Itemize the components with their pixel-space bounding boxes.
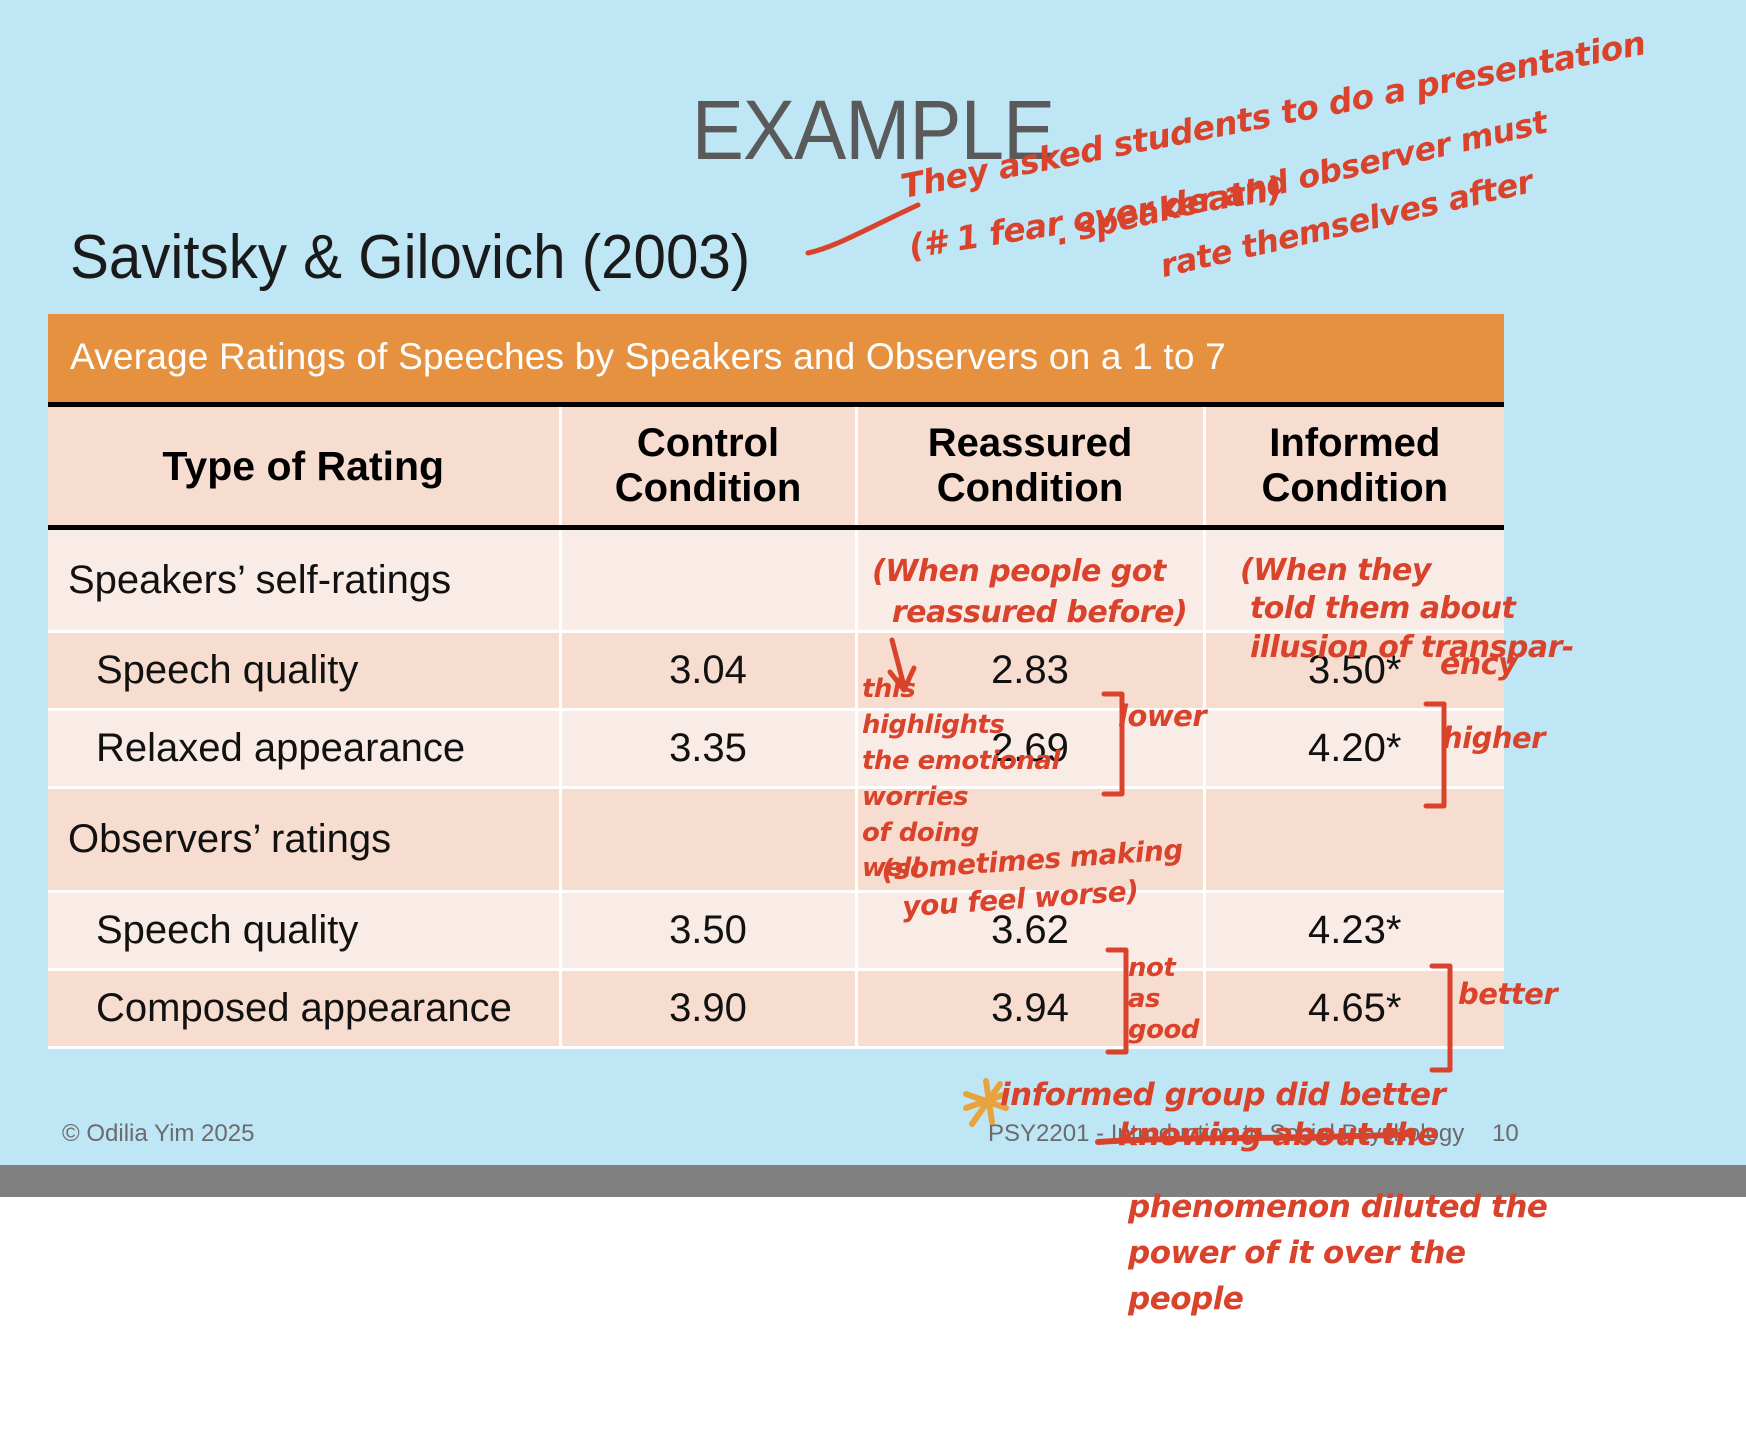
annotation-informed-note: (When they told them about illusion of t… bbox=[1240, 552, 1574, 667]
slide-subtitle: Savitsky & Gilovich (2003) bbox=[70, 222, 750, 293]
table-banner: Average Ratings of Speeches by Speakers … bbox=[48, 314, 1504, 405]
row-label: Speech quality bbox=[48, 892, 560, 970]
slide-canvas: EXAMPLE Savitsky & Gilovich (2003) Avera… bbox=[0, 0, 1746, 1456]
annotation-strike-line1: knowing about the bbox=[1118, 1118, 1438, 1154]
table-header-row: Type of Rating Control Condition Reassur… bbox=[48, 405, 1504, 528]
ratings-table-container: Average Ratings of Speeches by Speakers … bbox=[48, 314, 1504, 1049]
cell-informed: 4.23* bbox=[1204, 892, 1504, 970]
annotation-star-note: informed group did better bbox=[1000, 1078, 1445, 1114]
footer-page-number: 10 bbox=[1492, 1120, 1519, 1148]
header-line-1: Control bbox=[637, 421, 779, 465]
table-row: Composed appearance 3.90 3.94 4.65* bbox=[48, 970, 1504, 1048]
row-label: Speech quality bbox=[48, 632, 560, 710]
column-header-type: Type of Rating bbox=[48, 405, 560, 528]
cell-control bbox=[560, 528, 856, 632]
cell-control bbox=[560, 788, 856, 892]
annotation-higher: higher bbox=[1442, 722, 1545, 755]
column-header-control: Control Condition bbox=[560, 405, 856, 528]
table-banner-row: Average Ratings of Speeches by Speakers … bbox=[48, 314, 1504, 405]
table-row: Relaxed appearance 3.35 2.69 4.20* bbox=[48, 710, 1504, 788]
header-line-2: Condition bbox=[864, 466, 1197, 511]
annotation-better: better bbox=[1458, 978, 1557, 1011]
slide-bottom-fill bbox=[0, 1197, 1746, 1456]
annotation-not-as-good: not as good bbox=[1128, 953, 1199, 1047]
ratings-table: Average Ratings of Speeches by Speakers … bbox=[48, 314, 1504, 1049]
header-line-2: Condition bbox=[1212, 466, 1499, 511]
annotation-reassured-note: (When people got reassured before) bbox=[872, 552, 1187, 633]
header-line-1: Type of Rating bbox=[162, 443, 444, 489]
annotation-overflow-line2: phenomenon diluted the bbox=[1128, 1190, 1547, 1226]
table-row: Observers’ ratings bbox=[48, 788, 1504, 892]
header-line-2: Condition bbox=[568, 466, 849, 511]
annotation-overflow-line4: people bbox=[1128, 1282, 1243, 1318]
cell-control: 3.35 bbox=[560, 710, 856, 788]
table-row: Speech quality 3.50 3.62 4.23* bbox=[48, 892, 1504, 970]
annotation-lower: lower bbox=[1118, 700, 1206, 733]
column-header-informed: Informed Condition bbox=[1204, 405, 1504, 528]
cell-control: 3.90 bbox=[560, 970, 856, 1048]
annotation-informed-note-tail: ency bbox=[1440, 648, 1517, 683]
row-label: Speakers’ self-ratings bbox=[48, 528, 560, 632]
cell-informed bbox=[1204, 788, 1504, 892]
row-label: Observers’ ratings bbox=[48, 788, 560, 892]
annotation-overflow-line3: power of it over the bbox=[1128, 1236, 1466, 1272]
header-line-1: Informed bbox=[1269, 421, 1440, 465]
header-line-1: Reassured bbox=[928, 421, 1133, 465]
column-header-reassured: Reassured Condition bbox=[856, 405, 1204, 528]
cell-control: 3.50 bbox=[560, 892, 856, 970]
row-label: Composed appearance bbox=[48, 970, 560, 1048]
row-label: Relaxed appearance bbox=[48, 710, 560, 788]
cell-control: 3.04 bbox=[560, 632, 856, 710]
footer-copyright: © Odilia Yim 2025 bbox=[62, 1120, 254, 1148]
